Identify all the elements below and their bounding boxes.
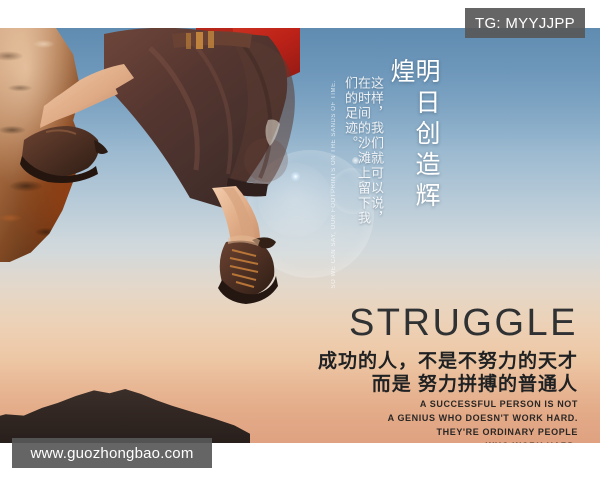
main-en-block: A SUCCESSFUL PERSON IS NOT A GENIUS WHO … [388, 398, 578, 443]
main-en-line-2: A GENIUS WHO DOESN'T WORK HARD. [388, 412, 578, 426]
poster-photo: 明日创造辉煌 这样，我们就可以说，在时间的沙滩上留下我们的足迹。 SO WE C… [0, 28, 600, 443]
telegram-watermark-badge: TG: MYYJJPP [465, 8, 585, 38]
main-en-line-4: WHO WORK HARD. [388, 440, 578, 443]
main-headline-en: STRUGGLE [349, 304, 578, 342]
main-en-line-1: A SUCCESSFUL PERSON IS NOT [388, 398, 578, 412]
vertical-subtitle-cn: 这样，我们就可以说，在时间的沙滩上留下我们的足迹。 [344, 76, 383, 239]
poster-canvas: 明日创造辉煌 这样，我们就可以说，在时间的沙滩上留下我们的足迹。 SO WE C… [0, 0, 600, 480]
site-watermark-badge: www.guozhongbao.com [12, 438, 212, 468]
foreground-mountain-silhouette [0, 375, 250, 443]
cliff-rock-texture [0, 28, 118, 262]
lens-flare-dot-tertiary-icon [277, 85, 287, 95]
main-en-line-3: THEY'RE ORDINARY PEOPLE [388, 426, 578, 440]
main-cn-line-2: 而是 努力拼搏的普通人 [372, 373, 578, 397]
vertical-headline-cn: 明日创造辉煌 [388, 58, 438, 239]
vertical-text-block: 明日创造辉煌 这样，我们就可以说，在时间的沙滩上留下我们的足迹。 SO WE C… [330, 54, 438, 239]
main-cn-line-1: 成功的人，不是不努力的天才 [318, 350, 578, 374]
sky-top-tint [0, 28, 600, 148]
lens-flare-dot-icon [291, 172, 300, 181]
vertical-subtitle-en: SO WE CAN SAY, OUR FOOTPRINTS ON THE SAN… [330, 80, 339, 289]
